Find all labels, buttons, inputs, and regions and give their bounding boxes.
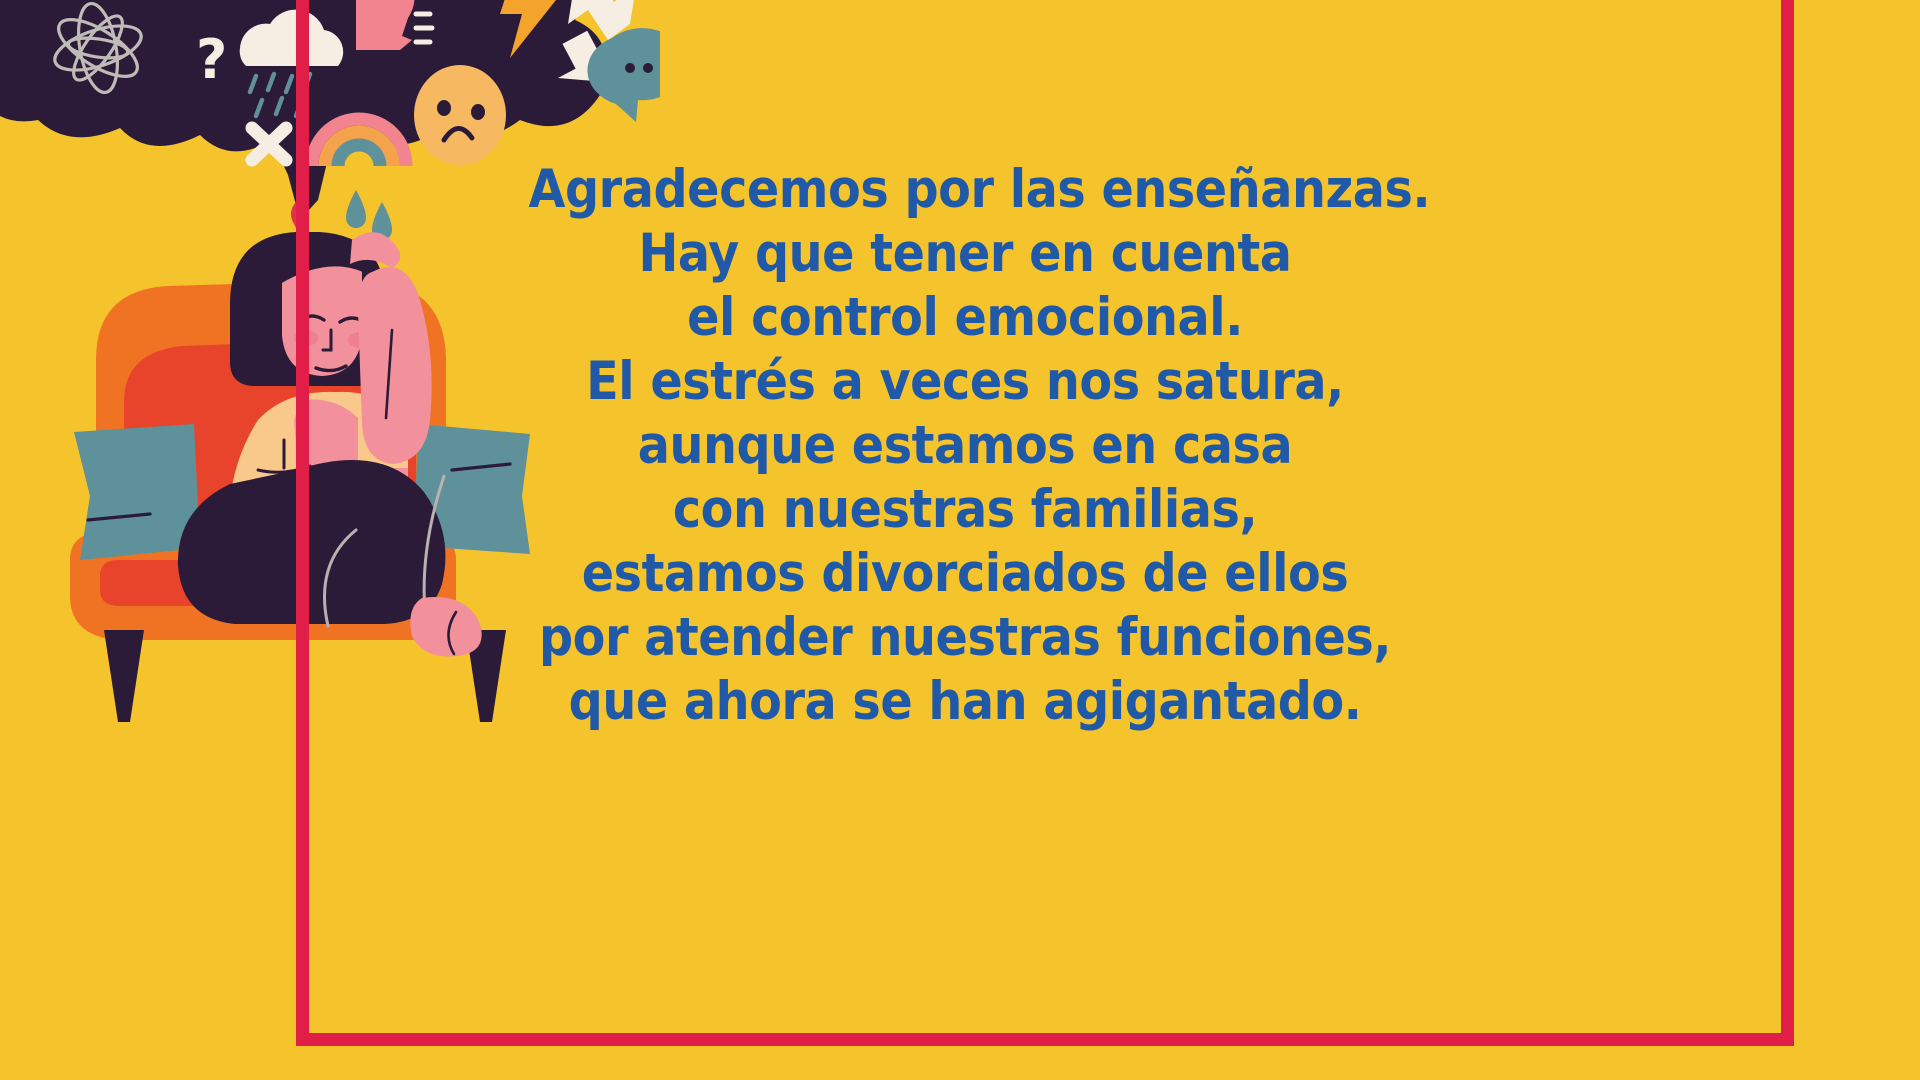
frame-border-left bbox=[296, 0, 309, 1046]
frame-border-bottom bbox=[296, 1033, 1794, 1046]
reflection-message: Agradecemos por las enseñanzas. Hay que … bbox=[529, 158, 1402, 734]
poem-line-3: el control emocional. bbox=[529, 286, 1402, 350]
poster-canvas: ? bbox=[0, 0, 1920, 1080]
question-mark-icon: ? bbox=[196, 28, 227, 91]
teardrop-icon bbox=[346, 190, 392, 240]
svg-text:?: ? bbox=[196, 28, 227, 91]
poem-line-7: estamos divorciados de ellos bbox=[529, 542, 1402, 606]
foot bbox=[410, 597, 481, 657]
poem-line-6: con nuestras familias, bbox=[529, 478, 1402, 542]
chair-leg-left bbox=[104, 630, 144, 722]
poem-line-5: aunque estamos en casa bbox=[529, 414, 1402, 478]
arm bbox=[358, 267, 432, 464]
poem-line-8: por atender nuestras funciones, bbox=[529, 606, 1402, 670]
rainbow-icon bbox=[312, 119, 406, 166]
poem-line-1: Agradecemos por las enseñanzas. bbox=[529, 158, 1402, 222]
sad-face-icon bbox=[414, 65, 506, 165]
poem-line-2: Hay que tener en cuenta bbox=[529, 222, 1402, 286]
poem-line-9: que ahora se han agigantado. bbox=[529, 670, 1402, 734]
poem-line-4: El estrés a veces nos satura, bbox=[529, 350, 1402, 414]
frame-border-right bbox=[1781, 0, 1794, 1046]
